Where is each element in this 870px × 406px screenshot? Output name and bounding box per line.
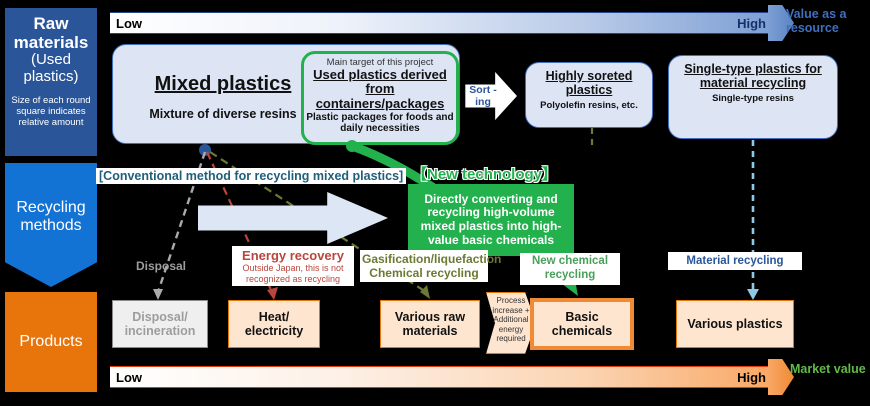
connector-gasification-arrowhead-icon — [420, 285, 430, 299]
box-used-plastics-target[interactable]: Main target of this project Used plastic… — [301, 51, 459, 145]
sorting-label: Sort -ing — [466, 84, 500, 108]
single-type-subtitle: Single-type resins — [669, 93, 837, 104]
sidebar-raw-title-2: materials — [14, 33, 89, 52]
connector-material-arrowhead-icon — [747, 289, 759, 300]
method-new-chemical-recycling-label: New chemical recycling — [520, 253, 620, 285]
value-bar-low-label: Low — [116, 16, 142, 31]
value-as-resource-caption: Value as a resource — [786, 7, 870, 36]
value-bar-high-label: High — [737, 16, 766, 31]
connector-disposal-arrowhead-icon — [153, 289, 163, 300]
sidebar-raw-materials: Raw materials (Used plastics) Size of ea… — [5, 8, 97, 156]
energy-recovery-title: Energy recovery — [235, 248, 351, 263]
sidebar-recycling-label: Recycling methods — [5, 199, 97, 252]
sorted-subtitle: Polyolefin resins, etc. — [526, 100, 652, 111]
diagram-canvas: Raw materials (Used plastics) Size of ea… — [0, 0, 870, 406]
conventional-method-arrow-icon — [198, 192, 388, 244]
market-value-bar: Low High — [110, 366, 770, 388]
sidebar-raw-title-4: plastics) — [23, 69, 78, 86]
single-type-title: Single-type plastics for material recycl… — [669, 62, 837, 90]
product-basic-chemicals[interactable]: Basic chemicals — [530, 298, 634, 350]
new-technology-description: Directly converting and recycling high-v… — [408, 184, 574, 256]
new-technology-label: 【New technology】 — [412, 163, 557, 184]
sidebar-products-label: Products — [19, 333, 82, 351]
method-gasification-label: Gasification/liquefaction Chemical recyc… — [360, 250, 488, 282]
box-single-type-plastics[interactable]: Single-type plastics for material recycl… — [668, 55, 838, 139]
method-material-recycling-label: Material recycling — [668, 252, 802, 270]
mixed-plastics-node-dot — [199, 144, 211, 156]
product-heat-electricity[interactable]: Heat/ electricity — [228, 300, 320, 348]
sidebar-raw-note: Size of each round square indicates rela… — [5, 95, 97, 129]
product-various-plastics[interactable]: Various plastics — [676, 300, 794, 348]
method-disposal-label: Disposal — [136, 259, 186, 273]
sorted-title: Highly soreted plastics — [526, 69, 652, 97]
box-highly-sorted-plastics[interactable]: Highly soreted plastics Polyolefin resin… — [525, 62, 653, 128]
sidebar-products: Products — [5, 292, 97, 392]
sidebar-recycling-methods: Recycling methods — [5, 163, 97, 287]
market-value-caption: Market value — [790, 362, 870, 376]
energy-recovery-note: Outside Japan, this is not recognized as… — [235, 263, 351, 284]
box-mixed-plastics[interactable]: Mixed plastics Mixture of diverse resins… — [112, 44, 460, 144]
sidebar-raw-title-3: (Used — [31, 52, 71, 69]
market-bar-high-label: High — [737, 370, 766, 385]
mixed-plastics-title: Mixed plastics — [129, 73, 317, 96]
mixed-plastics-subtitle: Mixture of diverse resins — [129, 107, 317, 121]
connector-energy-arrowhead-icon — [267, 287, 278, 300]
product-disposal-incineration[interactable]: Disposal/ incineration — [112, 300, 208, 348]
used-plastics-title: Used plastics derived from containers/pa… — [304, 68, 456, 111]
product-various-raw-materials[interactable]: Various raw materials — [380, 300, 480, 348]
process-increase-label: Process increase + Additional energy req… — [488, 296, 534, 344]
sidebar-raw-title-1: Raw — [34, 14, 69, 33]
market-bar-low-label: Low — [116, 370, 142, 385]
value-as-resource-bar: Low High — [110, 12, 770, 34]
used-plastics-subtitle: Plastic packages for foods and daily nec… — [304, 112, 456, 135]
conventional-method-label: [Conventional method for recycling mixed… — [96, 168, 406, 184]
method-energy-recovery: Energy recovery Outside Japan, this is n… — [232, 246, 354, 286]
